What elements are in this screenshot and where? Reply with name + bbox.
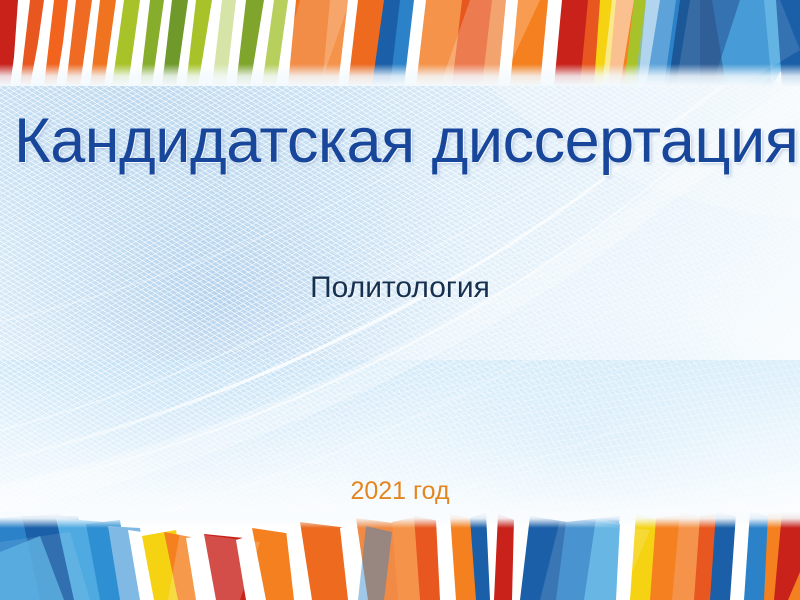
bottom-shard-graphic <box>0 512 800 600</box>
top-decorative-border <box>0 0 800 86</box>
slide-subtitle: Политология <box>0 270 800 306</box>
presentation-slide: Кандидатская диссертация Политология 202… <box>0 0 800 600</box>
slide-title: Кандидатская диссертация <box>14 104 800 178</box>
bottom-decorative-border <box>0 512 800 600</box>
top-shard-graphic <box>0 0 800 86</box>
slide-year: 2021 год <box>0 476 800 506</box>
